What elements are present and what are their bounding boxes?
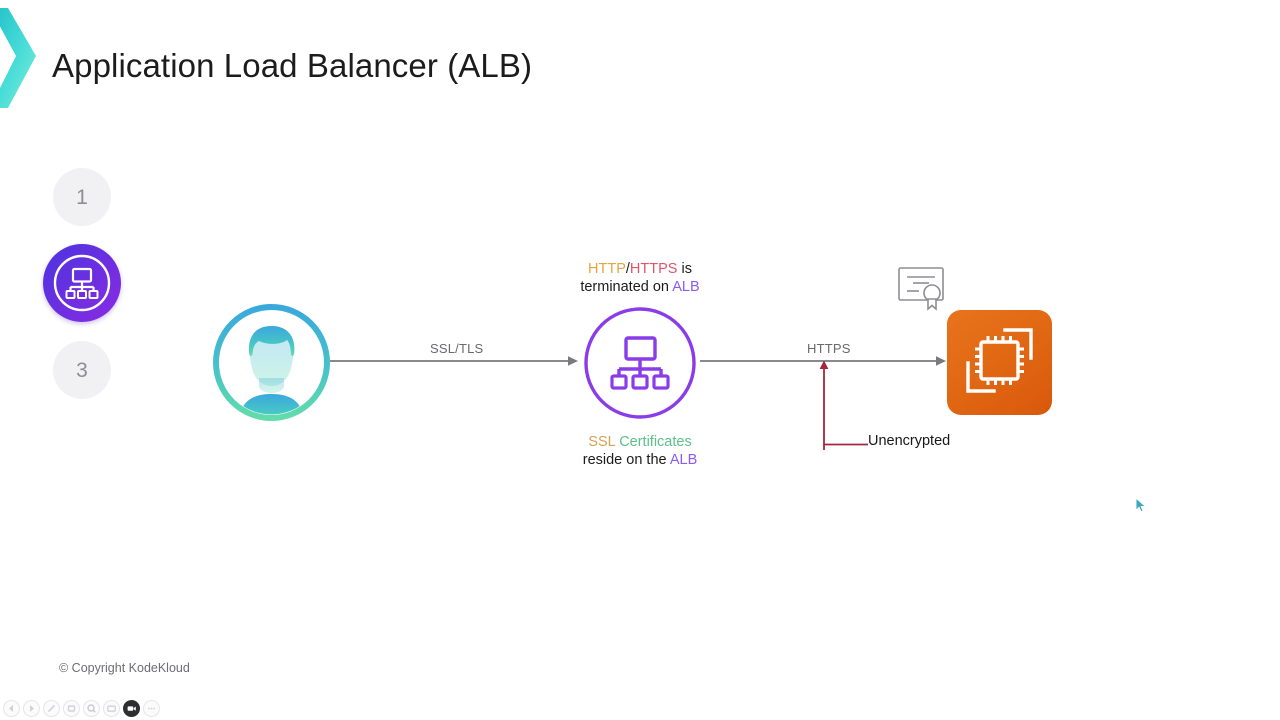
video-record-icon[interactable] — [123, 700, 140, 717]
architecture-diagram: SSL/TLS HTTP/HTTPS is terminated on ALB — [0, 0, 1280, 720]
annotation-http-termination: HTTP/HTTPS is terminated on ALB — [580, 260, 699, 296]
ellipsis-icon[interactable] — [143, 700, 160, 717]
text-is: is — [677, 261, 692, 277]
text-http: HTTP — [588, 261, 626, 277]
pen-icon[interactable] — [43, 700, 60, 717]
ec2-instance-node — [947, 310, 1052, 415]
callout-label-unencrypted: Unencrypted — [868, 433, 950, 449]
mouse-pointer-icon — [1135, 497, 1147, 514]
annotation-bottom-line2: reside on the ALB — [583, 451, 698, 469]
presentation-slide: Application Load Balancer (ALB) 1 — [0, 0, 1280, 720]
certificate-icon — [897, 265, 949, 311]
text-alb-bottom: ALB — [670, 452, 697, 468]
eraser-icon[interactable] — [63, 700, 80, 717]
text-ssl: SSL — [588, 434, 615, 450]
text-certificates: Certificates — [619, 434, 692, 450]
text-https: HTTPS — [630, 261, 678, 277]
annotation-top-line2: terminated on ALB — [580, 278, 699, 296]
note-icon[interactable] — [103, 700, 120, 717]
rewind-icon[interactable] — [3, 700, 20, 717]
cpu-chip-icon — [947, 308, 1052, 418]
text-alb-top: ALB — [672, 279, 699, 295]
magnifier-icon[interactable] — [83, 700, 100, 717]
alb-node-icon — [583, 306, 697, 420]
player-toolbar[interactable] — [3, 699, 160, 717]
edge-label-ssl-tls: SSL/TLS — [430, 341, 483, 356]
user-avatar-icon — [211, 302, 332, 423]
annotation-bottom-line1: SSL Certificates — [583, 433, 698, 451]
annotation-top-line1: HTTP/HTTPS is — [580, 260, 699, 278]
forward-icon[interactable] — [23, 700, 40, 717]
text-reside-on-the: reside on the — [583, 452, 670, 468]
footer-copyright: © Copyright KodeKloud — [59, 661, 190, 675]
edge-label-https: HTTPS — [807, 341, 851, 356]
text-terminated-on: terminated on — [580, 279, 672, 295]
annotation-ssl-certificates: SSL Certificates reside on the ALB — [583, 433, 698, 469]
callout-unencrypted-connector — [818, 358, 874, 450]
